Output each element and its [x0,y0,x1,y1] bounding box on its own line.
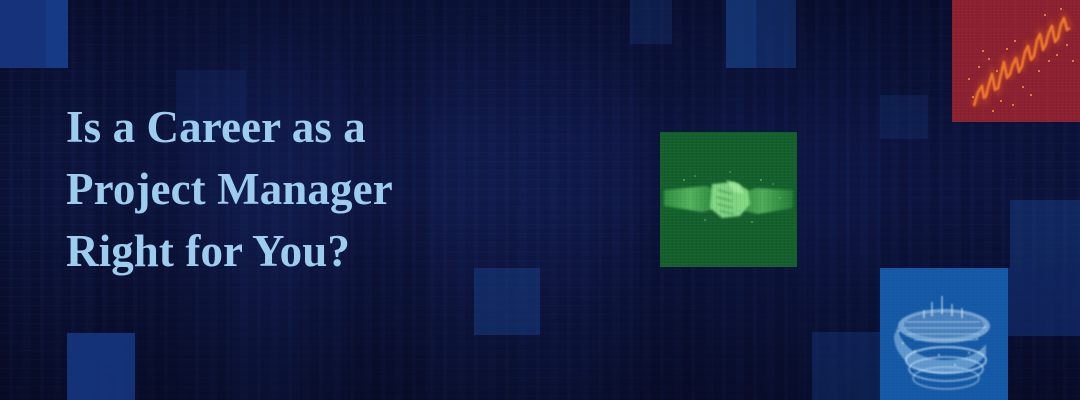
promo-banner: Is a Career as a Project Manager Right f… [0,0,1080,400]
accent-tile-top-right-edge [1008,268,1080,336]
handshake-grain-overlay [660,132,797,267]
image-tile-chart [952,0,1080,122]
accent-tile-bottom-left [67,333,135,400]
accent-tile-mid-low [880,95,928,139]
image-tile-globe [880,268,1008,400]
banner-headline: Is a Career as a Project Manager Right f… [66,96,586,282]
accent-tile-bottom-mid [812,332,880,400]
accent-tile-mid-upper [630,0,672,44]
globe-grain-overlay [880,268,1008,400]
chart-grain-overlay [952,0,1080,122]
accent-tile-top-left-inner [46,0,68,68]
accent-tile-top-mid-inner [726,0,756,68]
accent-tile-right-mid [1010,200,1080,268]
image-tile-handshake [660,132,797,267]
